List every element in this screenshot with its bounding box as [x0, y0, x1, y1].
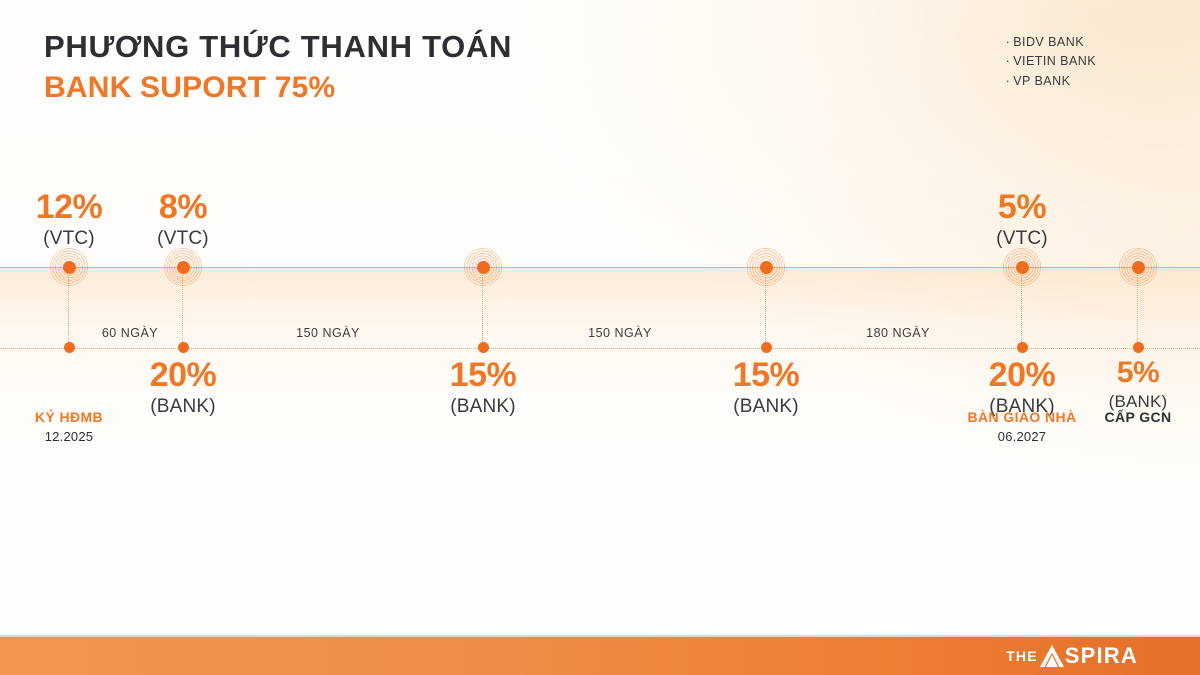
milestone-name: BÀN GIAO NHÀ: [967, 408, 1076, 426]
payment-label-above: 12%(VTC): [36, 190, 103, 251]
node-connector-line: [182, 275, 183, 348]
milestone-label: KÝ HĐMB12.2025: [35, 408, 103, 446]
milestone-name: KÝ HĐMB: [35, 408, 103, 426]
node-dot-icon: [760, 261, 773, 274]
bank-name: VP BANK: [1013, 74, 1070, 88]
footer-bar: THE SPIRA: [0, 635, 1200, 675]
payment-source-tag: (BANK): [150, 395, 217, 419]
node-connector-line: [1021, 275, 1022, 348]
bank-list-item: ·BIDV BANK: [1006, 33, 1096, 52]
node-dot-icon: [177, 261, 190, 274]
bank-name: BIDV BANK: [1013, 35, 1084, 49]
payment-label-below: 15%(BANK): [450, 358, 517, 419]
duration-label: 150 NGÀY: [296, 326, 360, 340]
bullet-icon: ·: [1006, 54, 1011, 68]
payment-percent: 15%: [450, 358, 517, 392]
payment-percent: 8%: [157, 190, 209, 224]
payment-label-below: 15%(BANK): [733, 358, 800, 419]
duration-label: 60 NGÀY: [102, 326, 158, 340]
bank-list-item: ·VP BANK: [1006, 72, 1096, 91]
duration-label: 180 NGÀY: [866, 326, 930, 340]
logo-name-text: SPIRA: [1065, 643, 1138, 669]
payment-label-above: 8%(VTC): [157, 190, 209, 251]
brand-logo: THE SPIRA: [1006, 643, 1138, 669]
timeline-sub-dot: [761, 342, 772, 353]
timeline-sub-dot: [64, 342, 75, 353]
payment-label-below: 20%(BANK): [150, 358, 217, 419]
payment-source-tag: (BANK): [733, 395, 800, 419]
node-dot-icon: [63, 261, 76, 274]
spire-arrow-icon: [1039, 644, 1065, 668]
duration-label: 150 NGÀY: [588, 326, 652, 340]
milestone-label: CẤP GCN: [1104, 408, 1171, 426]
bullet-icon: ·: [1006, 74, 1011, 88]
title-line-1: PHƯƠNG THỨC THANH TOÁN: [44, 28, 684, 66]
payment-label-below: 5%(BANK): [1109, 358, 1168, 412]
page-title: PHƯƠNG THỨC THANH TOÁN BANK SUPORT 75%: [44, 28, 684, 106]
timeline-sub-dot: [1133, 342, 1144, 353]
payment-percent: 5%: [996, 190, 1048, 224]
timeline-sub-dot: [1017, 342, 1028, 353]
bank-list: ·BIDV BANK·VIETIN BANK·VP BANK: [1006, 33, 1096, 91]
payment-source-tag: (BANK): [450, 395, 517, 419]
node-connector-line: [482, 275, 483, 348]
node-connector-line: [765, 275, 766, 348]
node-connector-line: [1137, 275, 1138, 348]
title-line-2: BANK SUPORT 75%: [44, 70, 684, 107]
payment-percent: 12%: [36, 190, 103, 224]
payment-percent: 20%: [989, 358, 1056, 392]
timeline-sub-dot: [478, 342, 489, 353]
bullet-icon: ·: [1006, 35, 1011, 49]
payment-source-tag: (VTC): [36, 227, 103, 251]
payment-source-tag: (VTC): [157, 227, 209, 251]
payment-label-above: 5%(VTC): [996, 190, 1048, 251]
milestone-date: 06.2027: [967, 428, 1076, 446]
node-connector-line: [68, 275, 69, 348]
milestone-date: 12.2025: [35, 428, 103, 446]
logo-the-text: THE: [1006, 648, 1038, 664]
milestone-name: CẤP GCN: [1104, 408, 1171, 426]
infographic-slide: PHƯƠNG THỨC THANH TOÁN BANK SUPORT 75% ·…: [0, 0, 1200, 675]
milestone-label: BÀN GIAO NHÀ06.2027: [967, 408, 1076, 446]
bank-name: VIETIN BANK: [1013, 54, 1096, 68]
node-dot-icon: [1016, 261, 1029, 274]
node-dot-icon: [477, 261, 490, 274]
bank-list-item: ·VIETIN BANK: [1006, 52, 1096, 71]
payment-percent: 15%: [733, 358, 800, 392]
payment-source-tag: (VTC): [996, 227, 1048, 251]
payment-percent: 20%: [150, 358, 217, 392]
node-dot-icon: [1132, 261, 1145, 274]
payment-percent: 5%: [1109, 358, 1168, 388]
timeline-sub-dot: [178, 342, 189, 353]
